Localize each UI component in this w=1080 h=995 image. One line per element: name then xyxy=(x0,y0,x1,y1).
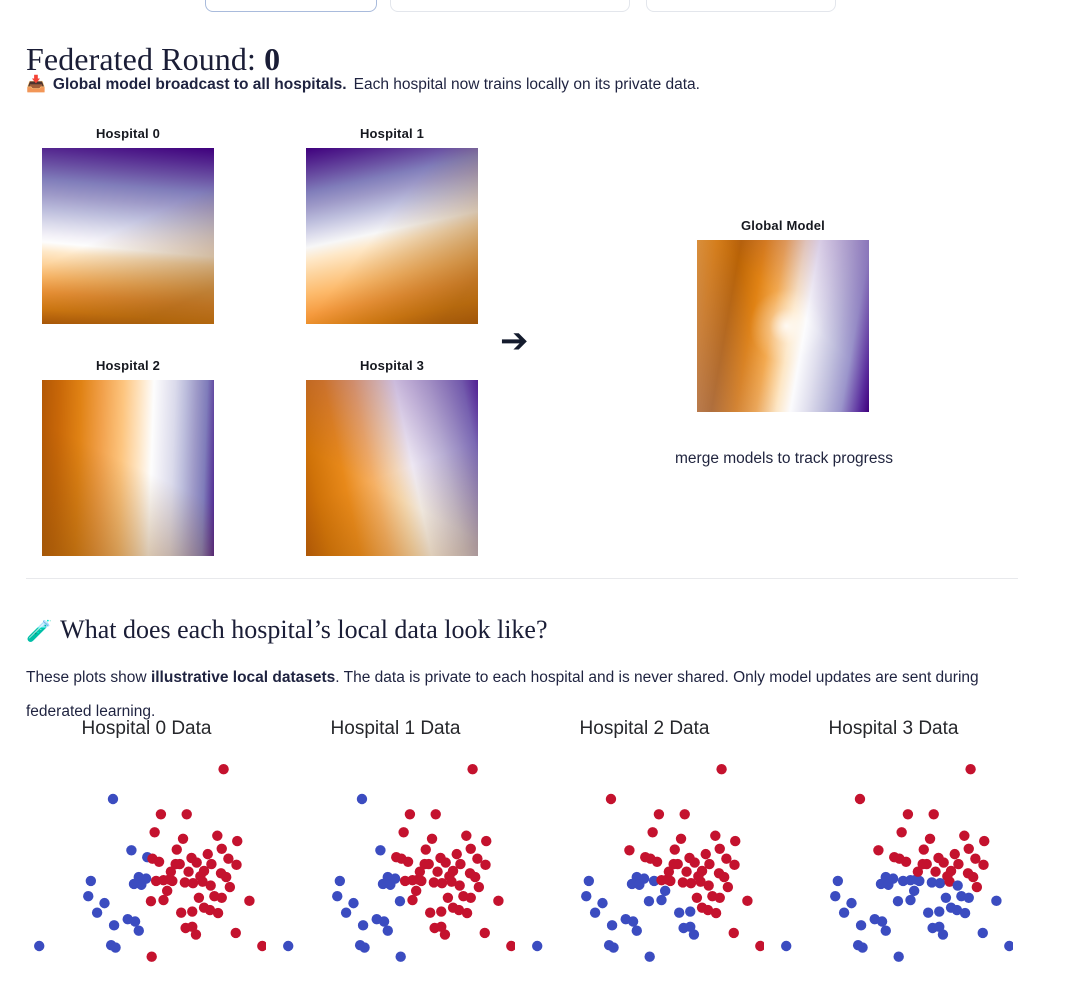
broadcast-info-line: 📥 Global model broadcast to all hospital… xyxy=(26,76,700,94)
global-model-title: Global Model xyxy=(697,218,869,233)
hospital-0-data-title: Hospital 0 Data xyxy=(22,718,271,740)
global-model-panel: Global Model xyxy=(697,218,869,412)
hospital-2-scatter-canvas xyxy=(528,750,764,995)
merge-caption: merge models to track progress xyxy=(649,450,919,468)
broadcast-headline: Global model broadcast to all hospitals. xyxy=(53,76,347,94)
test-tube-icon: 🧪 xyxy=(26,619,52,644)
hospital-2-heatmap xyxy=(42,380,214,556)
hospital-0-model-panel: Hospital 0 xyxy=(42,126,214,324)
broadcast-detail: Each hospital now trains locally on its … xyxy=(354,76,700,94)
federated-round-figure: Hospital 0 Hospital 1 Hospital 2 Hospita… xyxy=(0,118,1020,563)
local-data-section-title: 🧪 What does each hospital’s local data l… xyxy=(26,615,548,645)
hospital-2-model-title: Hospital 2 xyxy=(42,358,214,373)
hospital-1-model-panel: Hospital 1 xyxy=(306,126,478,324)
hospital-0-scatter-canvas xyxy=(30,750,266,995)
hospital-3-heatmap xyxy=(306,380,478,556)
round-number: 0 xyxy=(264,41,280,77)
description-bold: illustrative local datasets xyxy=(151,669,335,686)
top-widget-2[interactable] xyxy=(390,0,630,12)
hospital-1-data-title: Hospital 1 Data xyxy=(271,718,520,740)
page-title: Federated Round: 0 xyxy=(26,41,280,78)
hospital-0-model-title: Hospital 0 xyxy=(42,126,214,141)
hospital-3-model-title: Hospital 3 xyxy=(306,358,478,373)
hospital-3-data-title: Hospital 3 Data xyxy=(769,718,1018,740)
top-widget-1[interactable] xyxy=(205,0,377,12)
global-model-heatmap xyxy=(697,240,869,412)
hospital-3-model-panel: Hospital 3 xyxy=(306,358,478,556)
page-title-prefix: Federated Round: xyxy=(26,41,264,77)
top-widget-strip xyxy=(0,0,1080,12)
hospital-1-model-title: Hospital 1 xyxy=(306,126,478,141)
description-pre: These plots show xyxy=(26,669,151,686)
hospital-3-scatter-canvas xyxy=(777,750,1013,995)
local-data-section-title-text: What does each hospital’s local data loo… xyxy=(60,615,547,645)
hospital-3-data-panel: Hospital 3 Data xyxy=(769,718,1018,995)
hospital-1-heatmap xyxy=(306,148,478,324)
top-widget-3[interactable] xyxy=(646,0,836,12)
hospital-0-heatmap xyxy=(42,148,214,324)
hospital-1-scatter-canvas xyxy=(279,750,515,995)
hospital-2-data-title: Hospital 2 Data xyxy=(520,718,769,740)
hospital-1-data-panel: Hospital 1 Data xyxy=(271,718,520,995)
hospital-2-data-panel: Hospital 2 Data xyxy=(520,718,769,995)
section-divider xyxy=(26,578,1018,579)
hospital-data-scatter-row: Hospital 0 Data Hospital 1 Data Hospital… xyxy=(22,718,1058,995)
hospital-0-data-panel: Hospital 0 Data xyxy=(22,718,271,995)
hospital-2-model-panel: Hospital 2 xyxy=(42,358,214,556)
inbox-tray-icon: 📥 xyxy=(26,77,46,93)
merge-arrow-icon: ➔ xyxy=(500,324,529,358)
